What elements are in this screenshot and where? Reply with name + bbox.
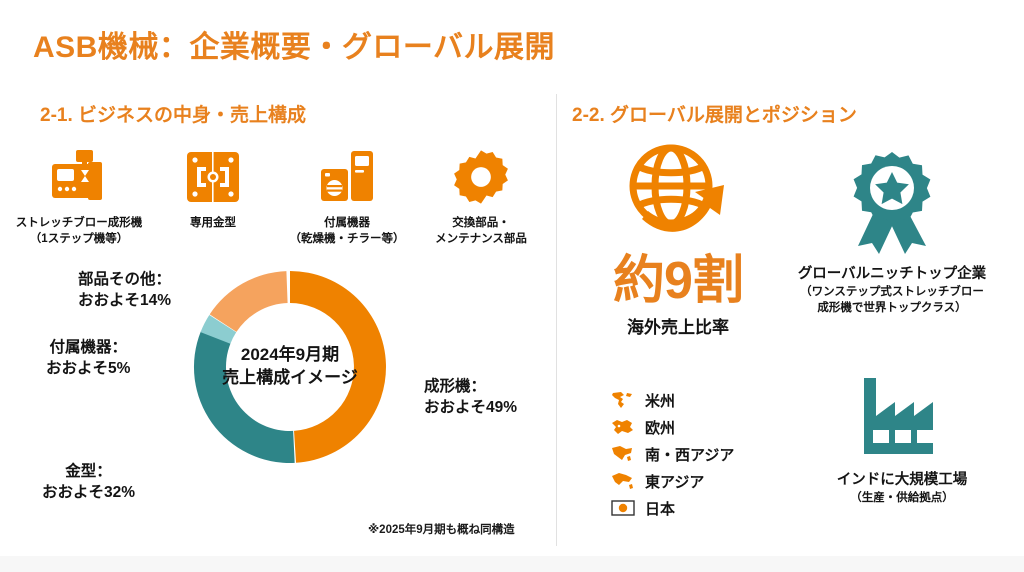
product-item-mold: 専用金型: [146, 144, 280, 232]
south-west-asia-map-icon: [610, 445, 636, 463]
product-label: ストレッチブロー成形機 （1ステップ機等）: [16, 216, 143, 247]
card-india-factory: インドに大規模工場 （生産・供給拠点）: [770, 372, 1024, 507]
donut-slice-machine: [290, 271, 386, 463]
region-row-south-west-asia: 南・西アジア: [610, 442, 734, 466]
product-label: 専用金型: [190, 216, 236, 232]
region-row-americas: 米州: [610, 388, 734, 412]
card-title: インドに大規模工場: [837, 468, 968, 489]
region-name: 米州: [645, 390, 675, 411]
donut-label-mold: 金型： おおよそ32%: [42, 462, 135, 504]
region-name: 欧州: [645, 417, 675, 438]
product-item-blow-molding-machine: ストレッチブロー成形機 （1ステップ機等）: [12, 144, 146, 247]
product-item-spare-parts: 交換部品・ メンテナンス部品: [414, 144, 548, 247]
card-subtitle: （ワンステップ式ストレッチブロー 成形機で世界トップクラス）: [800, 285, 984, 316]
globe-arrow-icon: [622, 142, 734, 251]
product-item-auxiliary-equipment: 付属機器 （乾燥機・チラー等）: [280, 144, 414, 247]
mold-icon: [184, 144, 242, 210]
japan-flag-icon: [610, 499, 636, 517]
region-row-japan: 日本: [610, 496, 734, 520]
europe-map-icon: [610, 418, 636, 436]
region-list: 米州 欧州 南・西アジア 東アジア: [610, 388, 734, 520]
gear-icon: [452, 144, 510, 210]
card-title: グローバルニッチトップ企業: [798, 262, 986, 283]
donut-label-parts: 部品その他： おおよそ14%: [78, 270, 171, 312]
east-asia-map-icon: [610, 472, 636, 490]
donut-slice-mold: [194, 331, 295, 463]
auxiliary-equipment-icon: [318, 144, 376, 210]
americas-map-icon: [610, 391, 636, 409]
region-name: 日本: [645, 498, 675, 519]
section-header-global: 2-2. グローバル展開とポジション: [572, 100, 857, 127]
chart-footnote: ※2025年9月期も概ね同構造: [368, 521, 515, 537]
award-ribbon-icon: [844, 150, 940, 254]
blow-molding-machine-icon: [48, 144, 110, 210]
page-title: ASB機械：企業概要・グローバル展開: [33, 22, 555, 66]
product-label: 付属機器 （乾燥機・チラー等）: [290, 216, 405, 247]
product-label: 交換部品・ メンテナンス部品: [435, 216, 527, 247]
product-icon-row: ストレッチブロー成形機 （1ステップ機等） 専用金: [12, 144, 548, 247]
region-row-europe: 欧州: [610, 415, 734, 439]
region-name: 東アジア: [645, 471, 704, 492]
card-global-niche-top: グローバルニッチトップ企業 （ワンステップ式ストレッチブロー 成形機で世界トップ…: [760, 150, 1024, 316]
region-name: 南・西アジア: [645, 444, 734, 465]
overseas-ratio-caption: 海外売上比率: [627, 313, 729, 338]
section-header-business: 2-1. ビジネスの中身・売上構成: [40, 100, 306, 127]
overseas-ratio-block: 約9割 海外売上比率: [588, 142, 768, 338]
donut-label-machine: 成形機： おおよそ49%: [424, 377, 517, 419]
bottom-band: [0, 556, 1024, 572]
donut-label-equipment: 付属機器： おおよそ5%: [46, 338, 130, 380]
region-row-east-asia: 東アジア: [610, 469, 734, 493]
column-divider: [556, 94, 557, 546]
card-subtitle: （生産・供給拠点）: [850, 491, 954, 507]
overseas-ratio-value: 約9割: [613, 255, 743, 307]
factory-icon: [854, 372, 950, 460]
sales-composition-donut-chart: 2024年9月期 売上構成イメージ: [185, 262, 395, 472]
